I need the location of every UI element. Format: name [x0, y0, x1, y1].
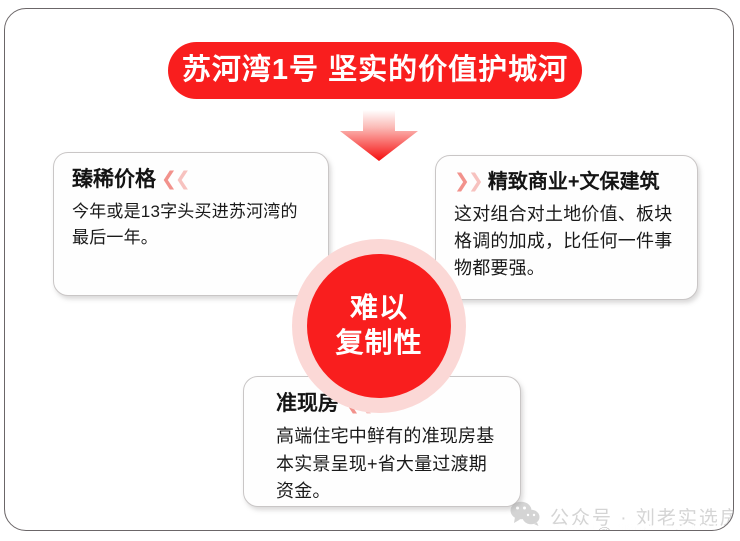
headline-banner: 苏河湾1号 坚实的价值护城河 [168, 42, 582, 99]
card-ready-body: 高端住宅中鲜有的准现房基本实景呈现+省大量过渡期资金。 [262, 423, 504, 505]
down-arrow-icon [338, 110, 420, 162]
center-emblem-line2: 复制性 [335, 326, 422, 361]
center-emblem-line1: 难以 [335, 291, 422, 326]
card-commerce-body: 这对组合对土地价值、板块格调的加成，比任何一件事物都要强。 [454, 201, 681, 282]
card-price-title: 臻稀价格 ❮❮ [72, 167, 312, 193]
watermark-sohu: 搜狐号@搜狐焦点杭州站 [550, 521, 720, 531]
card-price[interactable]: 臻稀价格 ❮❮ 今年或是13字头买进苏河湾的最后一年。 [53, 152, 329, 296]
card-commerce[interactable]: ❯❯ 精致商业+文保建筑 这对组合对土地价值、板块格调的加成，比任何一件事物都要… [435, 155, 698, 300]
center-emblem-label: 难以 复制性 [335, 291, 422, 360]
page-title: 苏河湾1号 坚实的价值护城河 [182, 56, 568, 85]
card-commerce-title-text: 精致商业+文保建筑 [488, 170, 660, 195]
card-price-title-text: 臻稀价格 [72, 167, 156, 193]
page-frame: 苏河湾1号 坚实的价值护城河 臻稀价格 ❮❮ 今年或是13字头买进苏河湾的最后一… [4, 8, 734, 531]
chevron-right-icon: ❯❯ [454, 172, 482, 191]
wechat-icon [510, 501, 540, 531]
chevron-left-icon: ❮❮ [161, 170, 189, 189]
center-emblem: 难以 复制性 [307, 254, 451, 398]
card-commerce-title: ❯❯ 精致商业+文保建筑 [454, 170, 681, 195]
card-price-body: 今年或是13字头买进苏河湾的最后一年。 [72, 199, 312, 251]
